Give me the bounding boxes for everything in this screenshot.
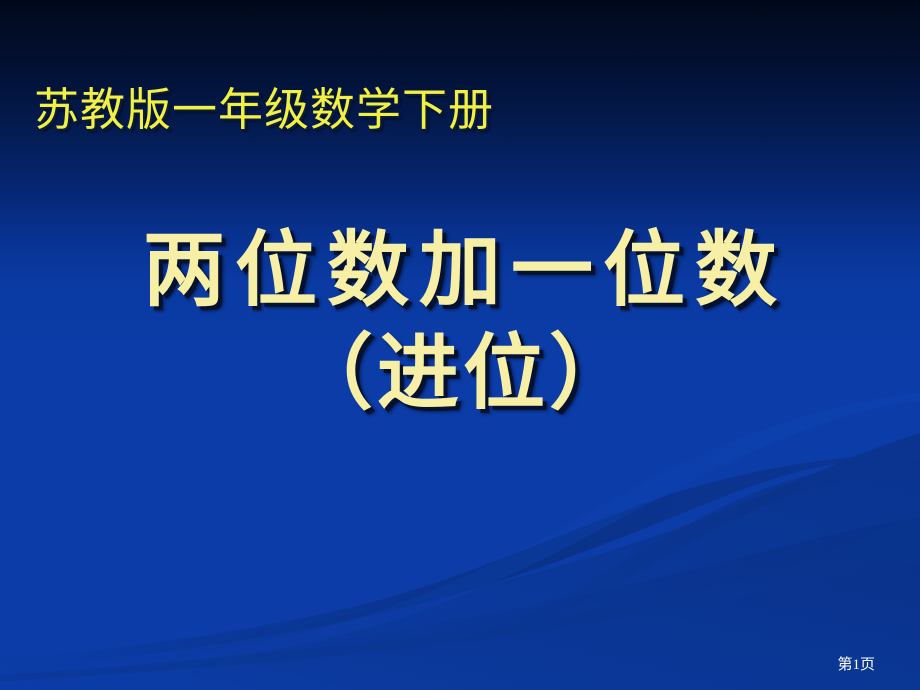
presentation-slide: 苏教版一年级数学下册 两位数加一位数 （进位） 第1页 bbox=[0, 0, 920, 690]
slide-subtitle: 苏教版一年级数学下册 bbox=[34, 88, 494, 133]
slide-title-block: 两位数加一位数 （进位） bbox=[0, 228, 920, 418]
slide-title-line-2: （进位） bbox=[0, 331, 920, 418]
page-number-label: 第1页 bbox=[837, 653, 875, 674]
slide-title-line-1: 两位数加一位数 bbox=[0, 228, 920, 315]
